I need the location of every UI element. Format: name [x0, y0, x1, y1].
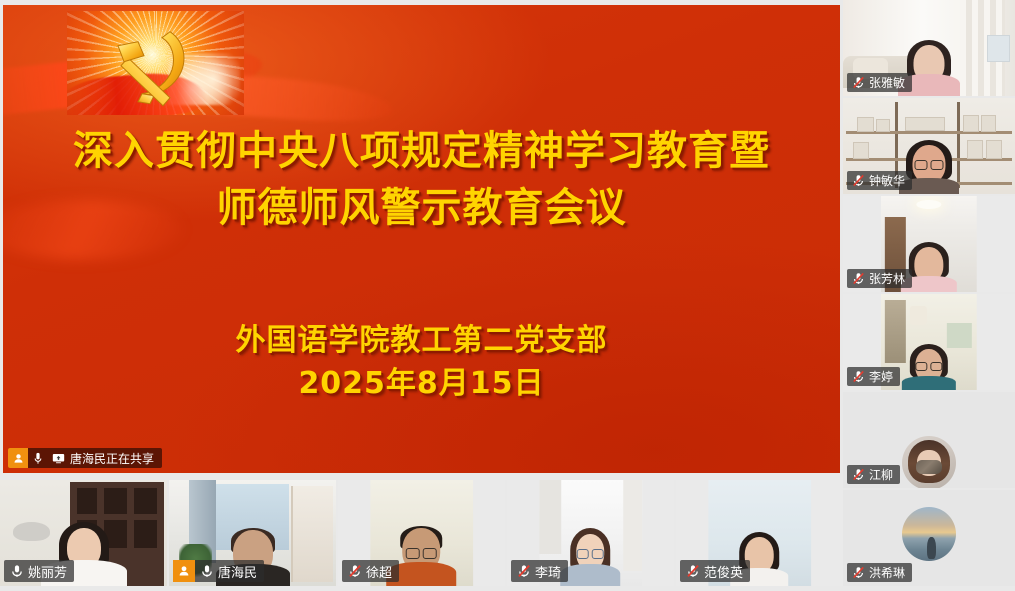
participant-tile[interactable]: 李婷	[843, 294, 1015, 390]
participant-tile[interactable]: 李琦	[507, 480, 674, 586]
microphone-muted-icon	[683, 564, 702, 578]
participant-tile[interactable]: 江柳	[843, 392, 1015, 488]
participant-name-badge: 张雅敏	[847, 73, 912, 92]
participant-name: 张雅敏	[869, 74, 905, 91]
participant-name: 洪希琳	[869, 564, 905, 581]
person-silhouette	[561, 528, 621, 586]
participant-name: 范俊英	[704, 562, 743, 581]
microphone-muted-icon	[850, 174, 867, 187]
participant-name: 钟敏华	[869, 172, 905, 189]
microphone-muted-icon	[850, 272, 867, 285]
microphone-muted-icon	[850, 370, 867, 383]
participant-name: 李婷	[869, 368, 893, 385]
screen-share-icon	[48, 448, 68, 468]
party-emblem-icon	[67, 11, 244, 115]
hammer-sickle-icon	[108, 22, 204, 108]
person-silhouette	[902, 344, 956, 390]
participant-icon	[8, 448, 28, 468]
participant-name-badge: 姚丽芳	[4, 560, 74, 582]
participant-name-badge: 洪希琳	[847, 563, 912, 582]
microphone-icon	[7, 564, 26, 578]
participant-tile[interactable]: 姚丽芳	[0, 480, 167, 586]
participant-name-badge: 江柳	[847, 465, 900, 484]
share-status-bar: 唐海民正在共享	[8, 448, 162, 468]
participant-name-badge: 唐海民	[173, 560, 264, 582]
participant-name: 徐超	[366, 562, 392, 581]
participant-name-badge: 徐超	[342, 560, 399, 582]
slide-title: 深入贯彻中央八项规定精神学习教育暨 师德师风警示教育会议	[3, 123, 840, 237]
participant-filmstrip[interactable]: 姚丽芳 唐海民	[0, 478, 843, 591]
participant-sidebar[interactable]: 张雅敏	[843, 0, 1015, 591]
microphone-muted-icon	[850, 468, 867, 481]
microphone-muted-icon	[850, 76, 867, 89]
microphone-muted-icon	[514, 564, 533, 578]
meeting-window: 深入贯彻中央八项规定精神学习教育暨 师德师风警示教育会议 外国语学院教工第二党支…	[0, 0, 1015, 591]
participant-tile[interactable]: 范俊英	[676, 480, 843, 586]
participant-name-badge: 范俊英	[680, 560, 750, 582]
presentation-slide: 深入贯彻中央八项规定精神学习教育暨 师德师风警示教育会议 外国语学院教工第二党支…	[3, 5, 840, 473]
participant-name: 唐海民	[218, 562, 257, 581]
participant-tile[interactable]: 唐海民	[169, 480, 336, 586]
participant-icon	[173, 560, 195, 582]
microphone-muted-icon	[850, 566, 867, 579]
microphone-muted-icon	[345, 564, 364, 578]
avatar	[902, 436, 956, 488]
avatar	[902, 507, 956, 561]
participant-name: 江柳	[869, 466, 893, 483]
participant-name-badge: 李婷	[847, 367, 900, 386]
participant-name-badge: 李琦	[511, 560, 568, 582]
participant-tile[interactable]: 徐超	[338, 480, 505, 586]
share-status-text: 唐海民正在共享	[68, 448, 162, 468]
slide-subtitle: 外国语学院教工第二党支部 2025年8月15日	[3, 320, 840, 405]
shared-screen-stage[interactable]: 深入贯彻中央八项规定精神学习教育暨 师德师风警示教育会议 外国语学院教工第二党支…	[0, 0, 843, 478]
participant-name-badge: 张芳林	[847, 269, 912, 288]
participant-tile[interactable]: 张雅敏	[843, 0, 1015, 96]
participant-name-badge: 钟敏华	[847, 171, 912, 190]
participant-tile[interactable]: 洪希琳	[843, 490, 1015, 586]
participant-name: 李琦	[535, 562, 561, 581]
participant-name: 张芳林	[869, 270, 905, 287]
participant-tile[interactable]: 钟敏华	[843, 98, 1015, 194]
participant-name: 姚丽芳	[28, 562, 67, 581]
participant-tile[interactable]: 张芳林	[843, 196, 1015, 292]
microphone-icon	[28, 448, 48, 468]
microphone-icon	[197, 564, 216, 578]
